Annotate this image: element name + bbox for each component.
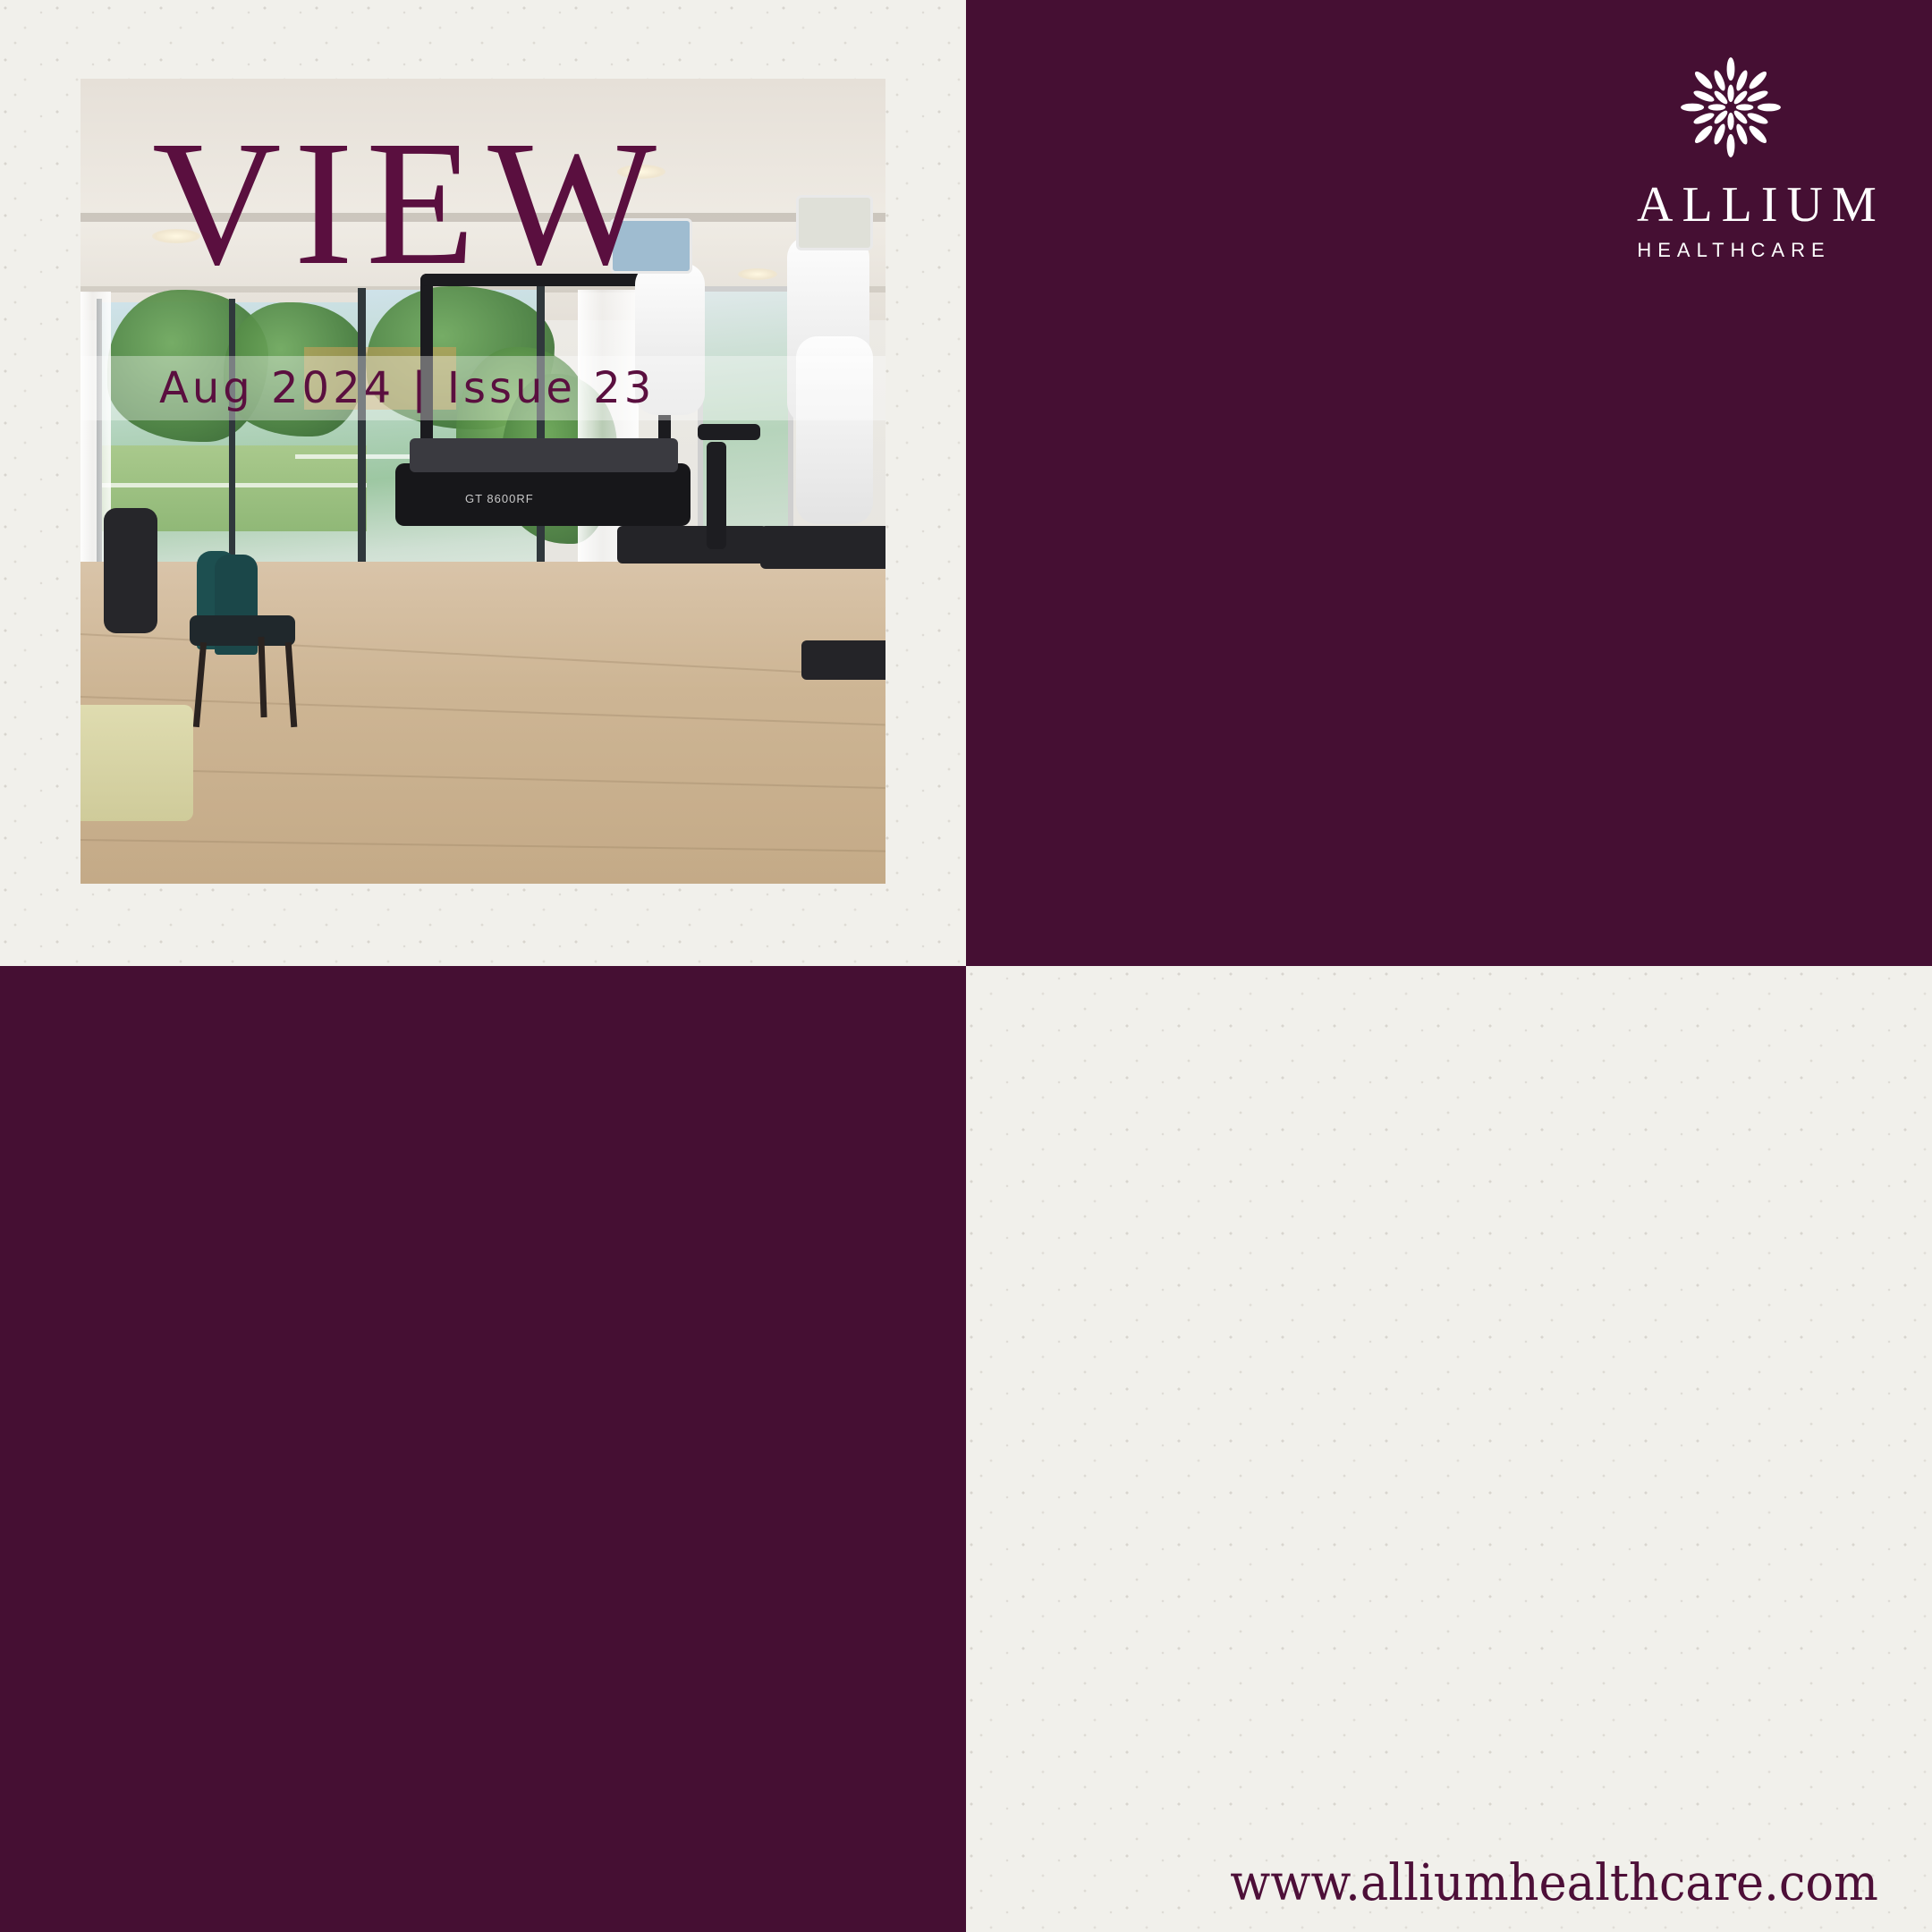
page-title: VIEW xyxy=(152,114,669,293)
treadmill-model-label: GT 8600RF xyxy=(465,492,534,505)
pool-quadrant: www.alliumhealthcare.com xyxy=(966,966,1932,1932)
schedule-quadrant: SCHEDULE Monday:Strengthening, Cardio We… xyxy=(0,966,966,1932)
website-url[interactable]: www.alliumhealthcare.com xyxy=(1230,1854,1878,1912)
logo-tagline: HEALTHCARE xyxy=(1628,239,1834,262)
design-quadrant: ALLIUM HEALTHCARE DESIGN Group size:8 pe… xyxy=(966,0,1932,966)
issue-line: Aug 2024 | Issue 23 xyxy=(159,363,655,413)
allium-flower-icon xyxy=(1673,49,1789,165)
newsletter-poster: GT 8600RF VIEW Aug 2024 | Issue 23 xyxy=(0,0,1932,1932)
allium-logo: ALLIUM HEALTHCARE xyxy=(1628,49,1834,262)
gym-interior-photo: GT 8600RF VIEW Aug 2024 | Issue 23 xyxy=(80,79,885,884)
cover-quadrant: GT 8600RF VIEW Aug 2024 | Issue 23 xyxy=(0,0,966,966)
logo-wordmark: ALLIUM xyxy=(1628,180,1834,230)
